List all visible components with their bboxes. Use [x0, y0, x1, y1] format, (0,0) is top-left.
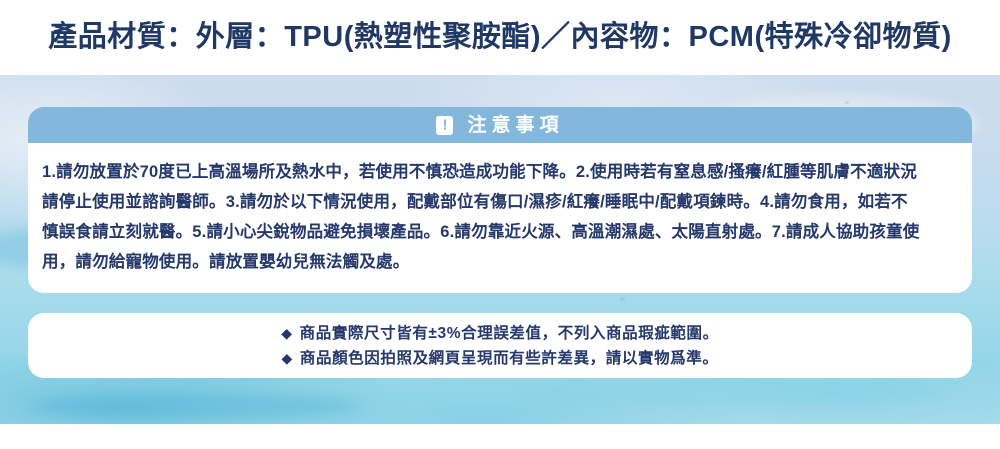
- diamond-bullet-icon: ◆: [282, 346, 293, 370]
- footnote-text: 商品實際尺寸皆有±3%合理誤差值，不列入商品瑕疵範圍。: [300, 322, 719, 346]
- footnote-row: ◆ 商品顏色因拍照及網頁呈現而有些許差異，請以實物爲準。: [282, 346, 719, 371]
- notice-header: ! 注意事項: [28, 107, 972, 143]
- exclamation-mark-glyph: !: [442, 117, 447, 132]
- notice-line: 1.請勿放置於70度已上高溫場所及熱水中，若使用不慎恐造成功能下降。2.使用時若…: [42, 157, 958, 187]
- wash-speck: [845, 101, 849, 104]
- wash-speck: [620, 297, 625, 301]
- wash-streak: [30, 393, 360, 419]
- notice-line: 用，請勿給寵物使用。請放置嬰幼兒無法觸及處。: [42, 247, 958, 277]
- page-title: 產品材質：外層：TPU(熱塑性聚胺酯)／內容物：PCM(特殊冷卻物質): [48, 23, 952, 52]
- exclamation-mark-icon: !: [436, 116, 453, 135]
- page-title-band: 產品材質：外層：TPU(熱塑性聚胺酯)／內容物：PCM(特殊冷卻物質): [0, 0, 1000, 75]
- footnote-row: ◆ 商品實際尺寸皆有±3%合理誤差值，不列入商品瑕疵範圍。: [281, 321, 719, 346]
- notice-body: 1.請勿放置於70度已上高溫場所及熱水中，若使用不慎恐造成功能下降。2.使用時若…: [28, 143, 972, 293]
- notice-line: 慎誤食請立刻就醫。5.請小心尖銳物品避免損壞產品。6.請勿靠近火源、高溫潮濕處、…: [42, 217, 958, 247]
- diamond-bullet-icon: ◆: [281, 321, 292, 345]
- footnote-text: 商品顏色因拍照及網頁呈現而有些許差異，請以實物爲準。: [300, 347, 719, 371]
- wash-streak: [520, 375, 940, 405]
- notice-header-label: 注意事項: [462, 116, 563, 135]
- notice-card: ! 注意事項 1.請勿放置於70度已上高溫場所及熱水中，若使用不慎恐造成功能下降…: [28, 107, 972, 293]
- footnote-card: ◆ 商品實際尺寸皆有±3%合理誤差值，不列入商品瑕疵範圍。 ◆ 商品顏色因拍照及…: [28, 313, 972, 378]
- product-notice-page: 產品材質：外層：TPU(熱塑性聚胺酯)／內容物：PCM(特殊冷卻物質) ! 注意…: [0, 0, 1000, 449]
- notice-line: 請停止使用並諮詢醫師。3.請勿於以下情況使用，配戴部位有傷口/濕疹/紅癢/睡眠中…: [42, 187, 958, 217]
